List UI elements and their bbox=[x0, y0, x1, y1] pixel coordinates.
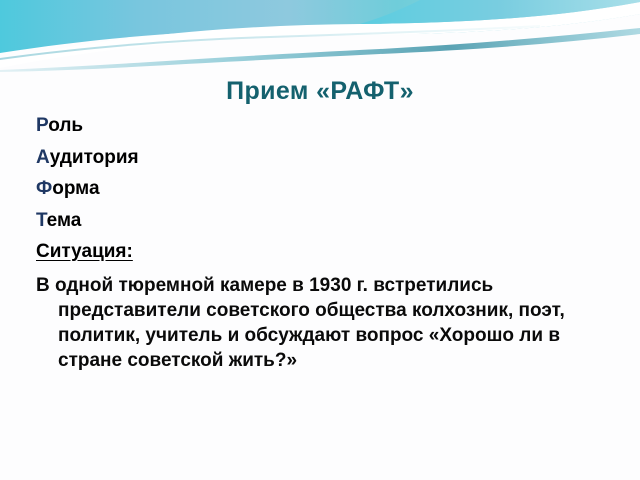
situation-label: Ситуация: bbox=[36, 241, 133, 262]
wave-graphic bbox=[0, 0, 640, 72]
list-item: Аудитория bbox=[36, 148, 608, 167]
raft-item-rest: орма bbox=[52, 178, 99, 199]
list-item: Форма bbox=[36, 179, 608, 198]
presentation-slide: Прием «РАФТ» Роль Аудитория Форма Тема С… bbox=[0, 0, 640, 480]
list-item: Тема bbox=[36, 211, 608, 230]
raft-initial-letter: Ф bbox=[36, 178, 52, 199]
raft-item-rest: ема bbox=[47, 210, 82, 231]
header-wave-decoration bbox=[0, 0, 640, 72]
raft-item-rest: оль bbox=[48, 115, 83, 136]
slide-body: Роль Аудитория Форма Тема Ситуация: В од… bbox=[36, 116, 608, 374]
page-title: Прием «РАФТ» bbox=[0, 78, 640, 106]
raft-initial-letter: Р bbox=[36, 115, 48, 136]
raft-initial-letter: Т bbox=[36, 210, 47, 231]
situation-heading: Ситуация: bbox=[36, 242, 608, 261]
raft-initial-letter: А bbox=[36, 147, 50, 168]
list-item: Роль bbox=[36, 116, 608, 135]
situation-paragraph: В одной тюремной камере в 1930 г. встрет… bbox=[36, 274, 598, 374]
raft-item-rest: удитория bbox=[50, 147, 139, 168]
